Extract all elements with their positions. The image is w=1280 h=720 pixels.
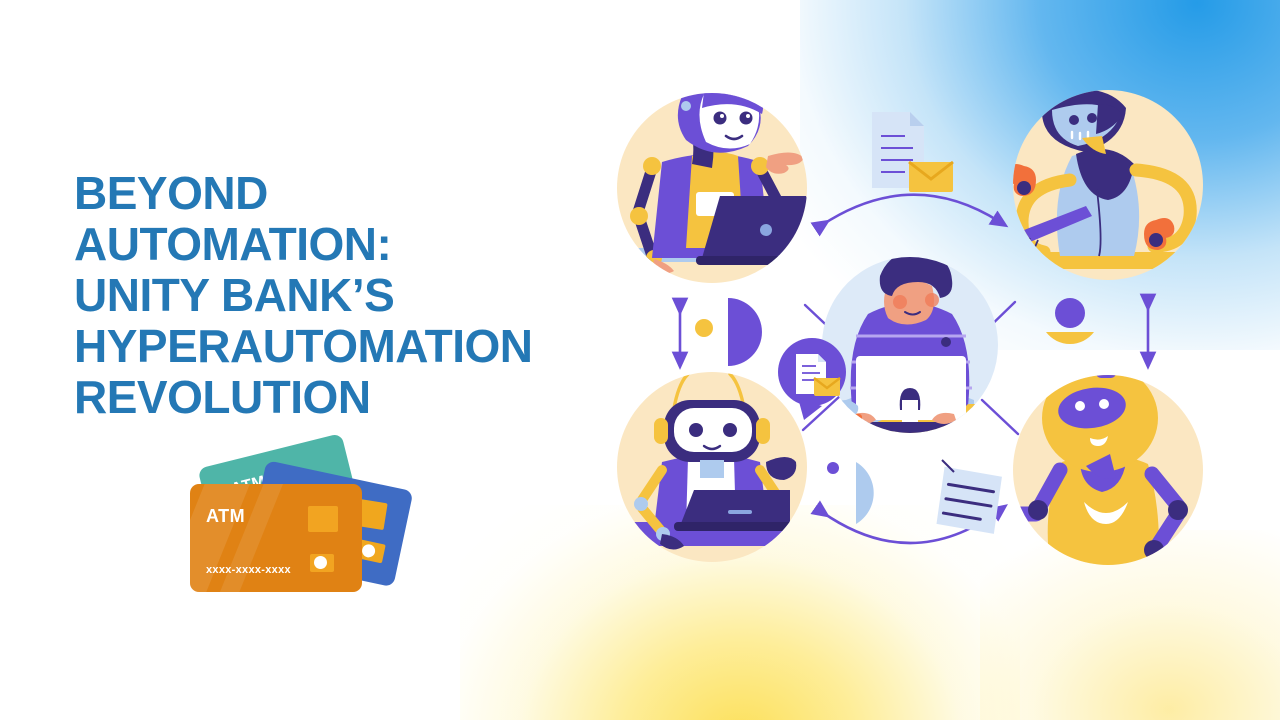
title-line-2: AUTOMATION: <box>74 219 674 270</box>
atm-cards-graphic: ATM ATM xxxx-xxxx-xxxx <box>190 452 420 612</box>
flow-icon-document-sheet <box>931 460 1008 540</box>
atm-card-orange-label: ATM <box>206 506 245 527</box>
decor-dot-yellow <box>695 319 713 337</box>
hyperautomation-illustration <box>600 70 1220 590</box>
decor-halfcircle-yellow <box>1046 332 1094 344</box>
atm-card-number: xxxx-xxxx-xxxx <box>206 564 291 576</box>
slide-canvas: BEYOND AUTOMATION: UNITY BANK’S HYPERAUT… <box>0 0 1280 720</box>
decor-halfcircle-purple <box>728 298 762 366</box>
title-line-1: BEYOND <box>74 168 674 219</box>
card-chip-icon-orange <box>308 506 338 532</box>
atm-card-orange: ATM xxxx-xxxx-xxxx <box>190 484 362 592</box>
flow-icon-envelope-top <box>909 162 953 192</box>
decor-dot-purple-right <box>1055 298 1085 328</box>
message-bubble <box>778 338 846 420</box>
decor-halfcircle-blue <box>856 462 874 524</box>
arrow-top-curve <box>822 195 1000 225</box>
title-line-5: REVOLUTION <box>74 372 674 423</box>
title-line-3: UNITY BANK’S <box>74 270 674 321</box>
decor-dot-purple-bottom <box>827 462 839 474</box>
page-title: BEYOND AUTOMATION: UNITY BANK’S HYPERAUT… <box>74 168 674 423</box>
title-line-4: HYPERAUTOMATION <box>74 321 674 372</box>
card-contactless-icon-orange <box>310 554 334 572</box>
